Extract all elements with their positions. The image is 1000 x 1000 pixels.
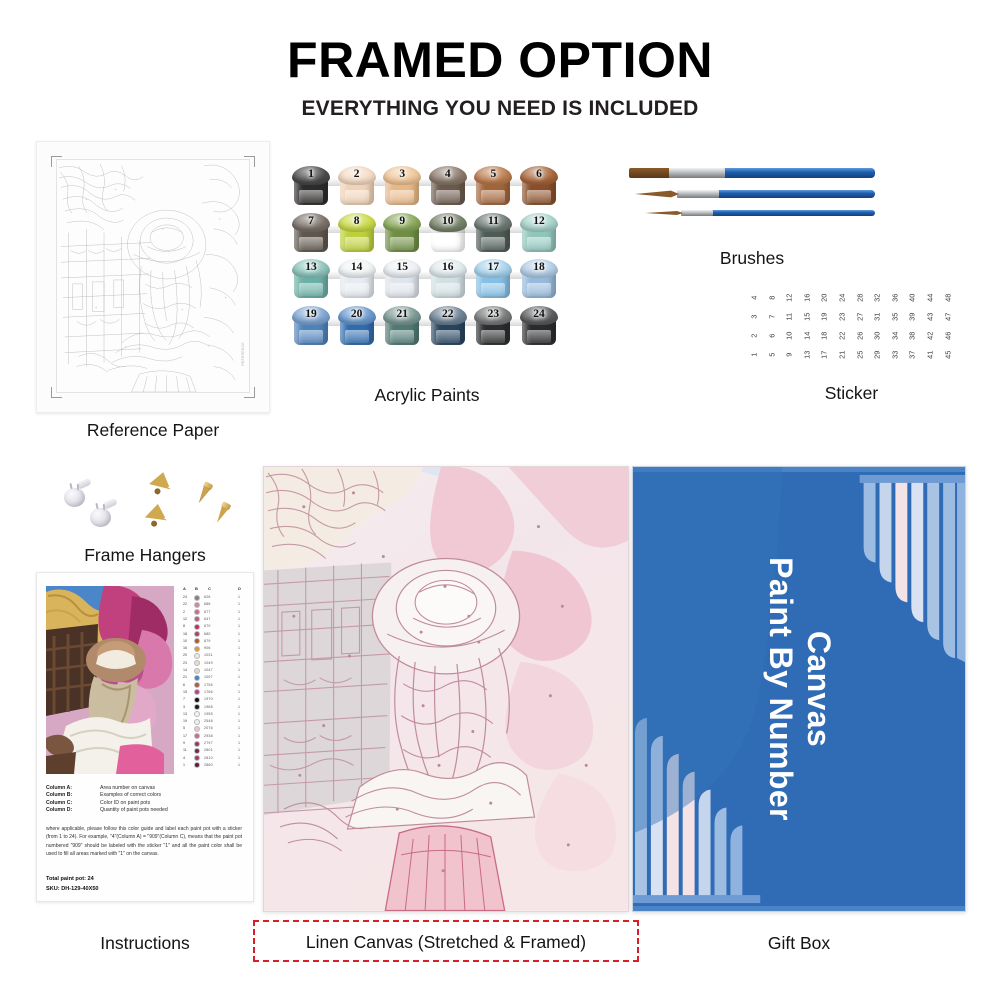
paint-pot: 8	[338, 213, 376, 254]
instructions-column-line: Column C:Color ID on paint pots	[46, 800, 246, 807]
brush-handle	[723, 168, 875, 178]
brush-handle	[711, 210, 875, 216]
legend-row: 126471	[182, 616, 246, 623]
brush-flat	[629, 168, 875, 178]
d-ring-hanger	[140, 502, 173, 533]
sticker-number: 5	[768, 347, 775, 363]
sticker-number: 19	[821, 309, 828, 325]
legend-color-id: 670	[204, 624, 211, 628]
reference-line-art: REFERENCE	[56, 159, 250, 393]
paint-pot-number: 3	[383, 168, 421, 180]
legend-quantity: 1	[238, 734, 240, 738]
sticker-number: 47	[944, 309, 951, 325]
sticker-number: 21	[838, 347, 845, 363]
crop-mark	[51, 387, 52, 398]
caption-brushes: Brushes	[629, 248, 875, 269]
sticker-number: 38	[909, 328, 916, 344]
brush-ferrule	[667, 168, 725, 178]
brush-handle	[717, 190, 875, 198]
legend-color-swatch	[194, 631, 200, 637]
paint-pot-row: 131415161718	[292, 259, 562, 300]
legend-color-id: 2548	[204, 719, 213, 723]
paint-pot-number: 18	[520, 261, 558, 273]
legend-color-id: 2076	[204, 726, 213, 730]
anchor-head	[90, 508, 111, 527]
legend-color-swatch	[194, 755, 200, 761]
legend-area-number: 14	[183, 668, 187, 672]
paint-pot: 18	[520, 259, 558, 300]
legend-color-swatch	[194, 675, 200, 681]
paint-pot: 14	[338, 259, 376, 300]
sticker-number: 28	[856, 290, 863, 306]
legend-row: 1410471	[182, 667, 246, 674]
legend-color-id: 1031	[204, 653, 213, 657]
paint-pot: 23	[474, 306, 512, 347]
legend-color-swatch	[194, 697, 200, 703]
legend-area-number: 6	[183, 683, 185, 687]
frame-hangers-item	[60, 468, 240, 540]
legend-color-swatch	[194, 704, 200, 710]
sticker-number: 1	[750, 347, 757, 363]
paint-pot: 17	[474, 259, 512, 300]
paint-pot-row: 123456	[292, 166, 562, 207]
gift-box-label-line1: Canvas	[799, 557, 837, 821]
paint-pot-number: 7	[292, 215, 330, 227]
legend-row: 520761	[182, 725, 246, 732]
paint-pot-number: 15	[383, 261, 421, 273]
anchor-stem	[77, 478, 92, 490]
sticker-number: 4	[750, 290, 757, 306]
legend-area-number: 16	[183, 646, 187, 650]
anchor-pin	[69, 483, 72, 489]
framed-option-infographic: FRAMED OPTION EVERYTHING YOU NEED IS INC…	[0, 0, 1000, 1000]
legend-color-swatch	[194, 660, 200, 666]
legend-color-id: 1970	[204, 697, 213, 701]
legend-color-id: 626	[204, 595, 211, 599]
sticker-number: 48	[944, 290, 951, 306]
caption-instructions: Instructions	[36, 933, 254, 954]
paint-pot: 4	[429, 166, 467, 207]
instructions-column-key: Column A:Area number on canvasColumn B:E…	[46, 785, 246, 815]
legend-color-swatch	[194, 748, 200, 754]
legend-area-number: 10	[183, 639, 187, 643]
paint-pot-number: 5	[474, 168, 512, 180]
sticker-number: 24	[838, 290, 845, 306]
sticker-number: 11	[785, 309, 792, 325]
sticker-number: 30	[873, 328, 880, 344]
anchor-head	[64, 488, 85, 507]
legend-color-id: 2797	[204, 741, 213, 745]
instructions-color-legend: ABCD246261226881267711264718670118680110…	[182, 586, 246, 776]
sticker-number: 12	[785, 290, 792, 306]
instructions-item: ABCD246261226881267711264718670118680110…	[36, 572, 254, 902]
screw	[196, 481, 214, 504]
legend-row: 1925481	[182, 718, 246, 725]
paint-pot-number: 13	[292, 261, 330, 273]
sticker-number: 35	[891, 309, 898, 325]
legend-quantity: 1	[238, 646, 240, 650]
legend-color-id: 2938	[204, 734, 213, 738]
legend-color-id: 680	[204, 632, 211, 636]
paint-pot: 19	[292, 306, 330, 347]
legend-area-number: 20	[183, 653, 187, 657]
paint-pot: 15	[383, 259, 421, 300]
legend-quantity: 1	[238, 639, 240, 643]
screw-shaft	[213, 506, 229, 525]
legend-row: 1319551	[182, 711, 246, 718]
legend-color-id: 1955	[204, 712, 213, 716]
legend-color-swatch	[194, 689, 200, 695]
paint-pot-number: 11	[474, 215, 512, 227]
sticker-number: 3	[750, 309, 757, 325]
legend-color-id: 647	[204, 617, 211, 621]
sticker-number: 17	[821, 347, 828, 363]
legend-area-number: 1	[183, 763, 185, 767]
legend-color-swatch	[194, 624, 200, 630]
legend-quantity: 1	[238, 712, 240, 716]
legend-row: 86701	[182, 623, 246, 630]
legend-row: 2310491	[182, 660, 246, 667]
legend-color-id: 2810	[204, 756, 213, 760]
instructions-column-key-label: Column B:	[46, 792, 72, 798]
sticker-number: 14	[803, 328, 810, 344]
legend-quantity: 1	[238, 697, 240, 701]
legend-area-number: 23	[183, 661, 187, 665]
legend-color-swatch	[194, 668, 200, 674]
legend-color-swatch	[194, 719, 200, 725]
paint-pot-number: 22	[429, 308, 467, 320]
instructions-column-key-label: Column C:	[46, 800, 72, 806]
paint-pot: 2	[338, 166, 376, 207]
paint-pot-number: 10	[429, 215, 467, 227]
paint-pot: 9	[383, 213, 421, 254]
instructions-column-line: Column A:Area number on canvas	[46, 785, 246, 792]
instructions-column-line: Column B:Examples of correct colors	[46, 792, 246, 799]
instructions-total-paint-pot: Total paint pot: 24	[46, 876, 94, 882]
anchor-stem	[103, 498, 118, 510]
gift-box-label: Canvas Paint By Number	[761, 557, 837, 821]
paint-pot: 3	[383, 166, 421, 207]
legend-row: 617561	[182, 682, 246, 689]
legend-row: 186801	[182, 631, 246, 638]
sticker-number: 40	[909, 290, 916, 306]
legend-row: 2110071	[182, 674, 246, 681]
paint-pot: 12	[520, 213, 558, 254]
sticker-number: 18	[821, 328, 828, 344]
legend-row: 2010311	[182, 652, 246, 659]
legend-color-swatch	[194, 741, 200, 747]
crop-mark	[254, 387, 255, 398]
sticker-number: 36	[891, 290, 898, 306]
brush-round-fine	[641, 210, 875, 216]
sticker-number: 8	[768, 290, 775, 306]
legend-quantity: 1	[238, 668, 240, 672]
paint-pot: 7	[292, 213, 330, 254]
instructions-column-value: Color ID on paint pots	[100, 800, 150, 806]
caption-frame-hangers: Frame Hangers	[36, 545, 254, 566]
paint-pot-number: 9	[383, 215, 421, 227]
caption-linen-canvas: Linen Canvas (Stretched & Framed)	[255, 932, 637, 953]
legend-area-number: 13	[183, 712, 187, 716]
legend-color-id: 688	[204, 602, 211, 606]
legend-color-id: 1007	[204, 675, 213, 679]
paint-pot-number: 23	[474, 308, 512, 320]
legend-area-number: 9	[183, 741, 185, 745]
sticker-item: 4812162024283236404448371115192327313539…	[744, 288, 959, 368]
instructions-sku: SKU: DH-129-40X50	[46, 886, 99, 892]
legend-color-swatch	[194, 653, 200, 659]
caption-linen-canvas-highlight: Linen Canvas (Stretched & Framed)	[253, 920, 639, 962]
legend-quantity: 1	[238, 683, 240, 687]
sticker-number: 37	[909, 347, 916, 363]
brushes-item	[629, 168, 875, 234]
gift-box-label-line2: Paint By Number	[761, 557, 799, 821]
legend-row: 128601	[182, 762, 246, 769]
sticker-number: 7	[768, 309, 775, 325]
caption-reference-paper: Reference Paper	[36, 420, 270, 441]
paint-pot-number: 8	[338, 215, 376, 227]
legend-area-number: 4	[183, 756, 185, 760]
sticker-number: 10	[785, 328, 792, 344]
paint-pot: 11	[474, 213, 512, 254]
legend-quantity: 1	[238, 624, 240, 628]
legend-quantity: 1	[238, 632, 240, 636]
paint-pot-row: 789101112	[292, 213, 562, 254]
paint-pot: 16	[429, 259, 467, 300]
sticker-number: 9	[785, 347, 792, 363]
legend-quantity: 1	[238, 675, 240, 679]
paint-pot-number: 14	[338, 261, 376, 273]
sticker-number: 2	[750, 328, 757, 344]
sticker-number: 22	[838, 328, 845, 344]
paint-pot: 1	[292, 166, 330, 207]
paint-pot: 24	[520, 306, 558, 347]
brush-ferrule	[677, 190, 719, 198]
brush-ferrule	[681, 210, 713, 216]
paint-pot-number: 6	[520, 168, 558, 180]
sticker-number: 46	[944, 328, 951, 344]
d-ring-hanger	[143, 469, 179, 502]
paint-pot: 5	[474, 166, 512, 207]
screw-shaft	[195, 486, 211, 505]
paint-pot-number: 17	[474, 261, 512, 273]
legend-row: 26771	[182, 609, 246, 616]
sticker-number: 29	[873, 347, 880, 363]
legend-color-id: 1049	[204, 661, 213, 665]
sticker-number: 44	[926, 290, 933, 306]
legend-color-id: 677	[204, 610, 211, 614]
reference-paper-item: REFERENCE	[36, 141, 270, 413]
sticker-number: 45	[944, 347, 951, 363]
brush-round-medium	[635, 190, 875, 198]
screw	[214, 501, 232, 524]
paint-pot-number: 1	[292, 168, 330, 180]
paint-pot-number: 4	[429, 168, 467, 180]
instructions-column-value: Quantity of paint pots needed	[100, 807, 168, 813]
linen-canvas-item	[263, 466, 629, 912]
instructions-column-line: Column D:Quantity of paint pots needed	[46, 807, 246, 814]
paint-pot-row: 192021222324	[292, 306, 562, 347]
page-title: FRAMED OPTION	[0, 34, 1000, 87]
sticker-number: 42	[926, 328, 933, 344]
legend-color-swatch	[194, 711, 200, 717]
legend-quantity: 1	[238, 748, 240, 752]
legend-row: 428101	[182, 755, 246, 762]
legend-area-number: 12	[183, 617, 187, 621]
instructions-column-key-label: Column D:	[46, 807, 72, 813]
caption-acrylic-paints: Acrylic Paints	[292, 385, 562, 406]
legend-column-header: B	[195, 586, 198, 591]
paint-pot-number: 19	[292, 308, 330, 320]
paint-pot-number: 20	[338, 308, 376, 320]
canvas-line-art-svg	[264, 467, 628, 911]
reference-art-svg	[57, 160, 249, 392]
legend-color-swatch	[194, 602, 200, 608]
legend-area-number: 24	[183, 595, 187, 599]
preview-art-svg	[46, 586, 174, 774]
instructions-column-value: Examples of correct colors	[100, 792, 161, 798]
legend-quantity: 1	[238, 756, 240, 760]
paint-pot: 10	[429, 213, 467, 254]
legend-color-swatch	[194, 646, 200, 652]
caption-sticker: Sticker	[744, 383, 959, 404]
legend-color-swatch	[194, 762, 200, 768]
legend-area-number: 2	[183, 610, 185, 614]
paint-pot: 21	[383, 306, 421, 347]
legend-color-swatch	[194, 682, 200, 688]
legend-quantity: 1	[238, 617, 240, 621]
legend-row: 246261	[182, 594, 246, 601]
sticker-number: 31	[873, 309, 880, 325]
sticker-number-grid: 4812162024283236404448371115192327313539…	[744, 288, 959, 368]
legend-color-swatch	[194, 595, 200, 601]
legend-color-id: 2801	[204, 748, 213, 752]
legend-row: 226881	[182, 601, 246, 608]
legend-color-id: 2860	[204, 763, 213, 767]
crop-mark	[254, 156, 255, 167]
sticker-number: 16	[803, 290, 810, 306]
legend-quantity: 1	[238, 726, 240, 730]
legend-area-number: 3	[183, 705, 185, 709]
legend-area-number: 22	[183, 602, 187, 606]
sticker-number: 32	[873, 290, 880, 306]
legend-area-number: 7	[183, 697, 185, 701]
paint-pot: 6	[520, 166, 558, 207]
legend-quantity: 1	[238, 705, 240, 709]
legend-row: 927971	[182, 740, 246, 747]
legend-quantity: 1	[238, 763, 240, 767]
legend-color-swatch	[194, 726, 200, 732]
legend-column-header: C	[208, 586, 211, 591]
legend-quantity: 1	[238, 610, 240, 614]
sticker-number: 26	[856, 328, 863, 344]
paint-pot: 13	[292, 259, 330, 300]
legend-color-swatch	[194, 638, 200, 644]
brush-bristles	[645, 210, 683, 216]
paint-pot-number: 16	[429, 261, 467, 273]
paint-pot: 22	[429, 306, 467, 347]
sticker-number: 25	[856, 347, 863, 363]
paint-pot: 20	[338, 306, 376, 347]
legend-color-id: 1047	[204, 668, 213, 672]
paint-pot-number: 24	[520, 308, 558, 320]
caption-gift-box: Gift Box	[632, 933, 966, 954]
sticker-number: 13	[803, 347, 810, 363]
sticker-number: 6	[768, 328, 775, 344]
legend-quantity: 1	[238, 595, 240, 599]
legend-color-id: 906	[204, 646, 211, 650]
brush-bristles	[635, 190, 679, 198]
crop-mark	[51, 156, 52, 167]
legend-color-swatch	[194, 733, 200, 739]
legend-row: 1517661	[182, 689, 246, 696]
legend-color-id: 879	[204, 639, 211, 643]
legend-color-id: 1766	[204, 690, 213, 694]
brush-bristles	[629, 168, 669, 178]
sticker-number: 15	[803, 309, 810, 325]
legend-area-number: 5	[183, 726, 185, 730]
legend-quantity: 1	[238, 719, 240, 723]
legend-row: 169061	[182, 645, 246, 652]
sticker-number: 39	[909, 309, 916, 325]
acrylic-paints-item: 123456789101112131415161718192021222324	[292, 166, 562, 352]
legend-color-id: 1756	[204, 683, 213, 687]
legend-area-number: 21	[183, 675, 187, 679]
legend-column-header: A	[183, 586, 186, 591]
reference-paper-side-text: REFERENCE	[241, 342, 245, 366]
legend-row: 1729381	[182, 733, 246, 740]
legend-area-number: 17	[183, 734, 187, 738]
legend-quantity: 1	[238, 741, 240, 745]
sticker-number: 23	[838, 309, 845, 325]
instructions-preview-image	[46, 586, 174, 774]
sticker-number: 43	[926, 309, 933, 325]
paint-pot-number: 2	[338, 168, 376, 180]
legend-area-number: 11	[183, 748, 187, 752]
sticker-number: 33	[891, 347, 898, 363]
crop-mark	[51, 397, 62, 398]
legend-color-swatch	[194, 609, 200, 615]
legend-row: 719701	[182, 696, 246, 703]
crop-mark	[51, 156, 62, 157]
instructions-paragraph: where applicable, please follow this col…	[46, 825, 242, 859]
legend-column-header: D	[238, 586, 241, 591]
page-subtitle: EVERYTHING YOU NEED IS INCLUDED	[0, 97, 1000, 121]
legend-quantity: 1	[238, 602, 240, 606]
legend-row: 108791	[182, 638, 246, 645]
paint-pot-number: 21	[383, 308, 421, 320]
paint-pot-number: 12	[520, 215, 558, 227]
instructions-column-key-label: Column A:	[46, 785, 72, 791]
legend-area-number: 18	[183, 632, 187, 636]
legend-row: 319681	[182, 704, 246, 711]
sticker-number: 41	[926, 347, 933, 363]
legend-quantity: 1	[238, 661, 240, 665]
legend-quantity: 1	[238, 690, 240, 694]
sticker-number: 34	[891, 328, 898, 344]
legend-quantity: 1	[238, 653, 240, 657]
instructions-column-value: Area number on canvas	[100, 785, 155, 791]
sticker-number: 20	[821, 290, 828, 306]
legend-row: 1128011	[182, 747, 246, 754]
legend-area-number: 8	[183, 624, 185, 628]
legend-color-id: 1968	[204, 705, 213, 709]
legend-color-swatch	[194, 616, 200, 622]
anchor-pin	[95, 503, 98, 509]
gift-box-item: Canvas Paint By Number	[632, 466, 966, 912]
sticker-number: 27	[856, 309, 863, 325]
legend-area-number: 15	[183, 690, 187, 694]
